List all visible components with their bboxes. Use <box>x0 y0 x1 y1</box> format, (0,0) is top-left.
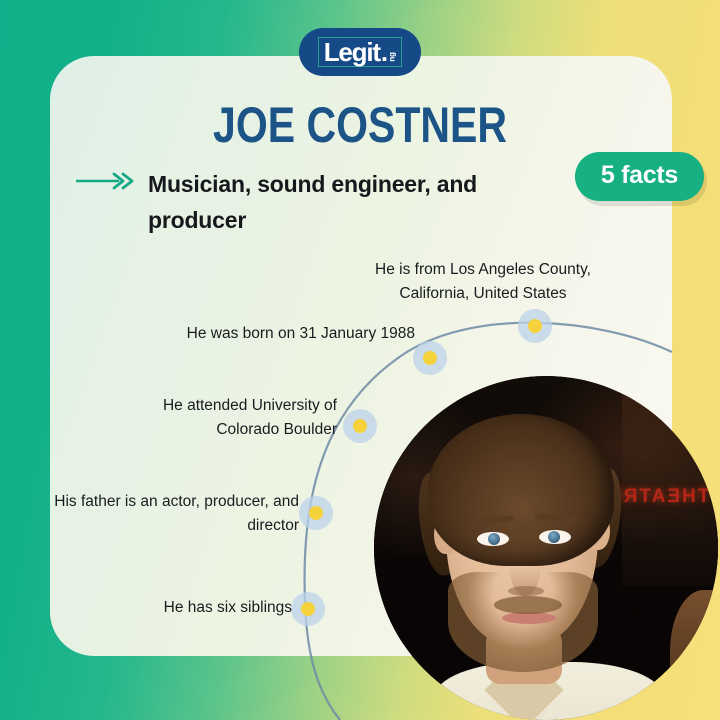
portrait-wall <box>622 376 718 586</box>
fact-item-birth: He was born on 31 January 1988 <box>175 322 415 346</box>
iris-left <box>488 533 500 545</box>
arc-node-1 <box>518 309 552 343</box>
eye-right <box>539 530 571 544</box>
logo-ng-suffix: ng <box>389 52 397 61</box>
theatre-sign-text: THEATRE <box>607 486 709 508</box>
page-title: JOE COSTNER <box>65 96 655 154</box>
double-chevron-arrow-icon <box>76 172 136 195</box>
logo-outline-box: Legit . ng <box>318 37 403 67</box>
page-subtitle: Musician, sound engineer, and producer <box>148 166 546 238</box>
logo-wordmark: Legit <box>324 39 380 65</box>
subtitle-row: Musician, sound engineer, and producer <box>76 166 546 238</box>
fact-item-origin: He is from Los Angeles County, Californi… <box>350 258 616 306</box>
fact-item-father: His father is an actor, producer, and di… <box>45 490 299 538</box>
arc-node-4 <box>299 496 333 530</box>
facts-count-badge: 5 facts <box>575 152 704 201</box>
fact-item-school: He attended University of Colorado Bould… <box>115 394 337 442</box>
fact-item-siblings: He has six siblings <box>118 596 292 620</box>
eye-left <box>477 532 509 546</box>
legit-ng-logo[interactable]: Legit . ng <box>299 28 421 76</box>
logo-inner: Legit . ng <box>318 37 403 67</box>
arc-node-2 <box>413 341 447 375</box>
moustache <box>494 596 562 614</box>
arc-node-5 <box>291 592 325 626</box>
iris-right <box>548 531 560 543</box>
portrait-photo: THEATRE <box>374 376 718 720</box>
arc-node-3 <box>343 409 377 443</box>
